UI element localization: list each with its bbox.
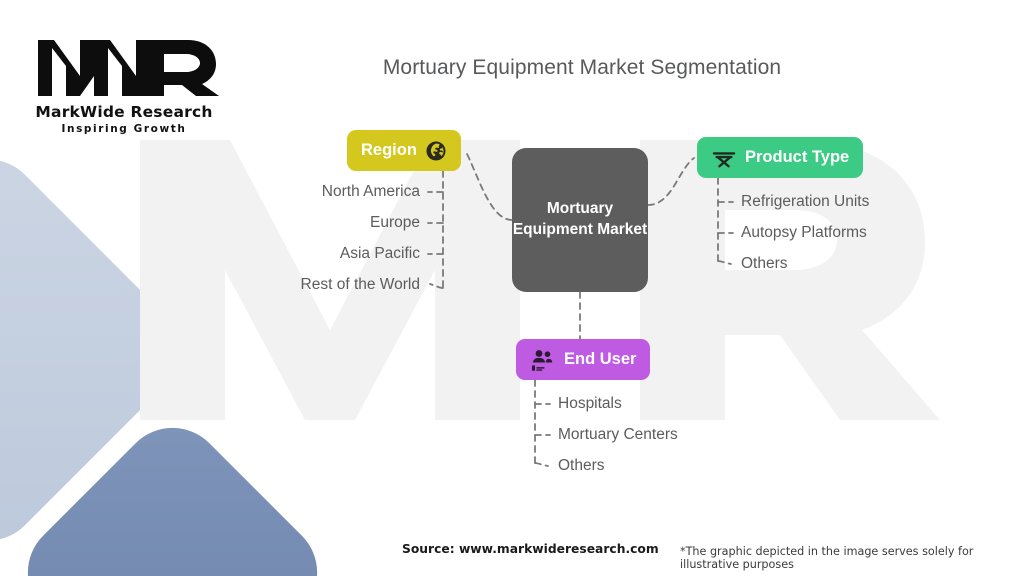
branch-label-region: Region (361, 141, 417, 160)
branch-label-product-type: Product Type (745, 148, 849, 167)
leaf-end-user-2[interactable]: Others (558, 457, 605, 475)
leaf-region-1[interactable]: Europe (170, 214, 420, 232)
people-icon (530, 348, 556, 372)
edge-region-leaf-3 (430, 284, 443, 288)
segmentation-diagram: Mortuary Equipment Market Region Product… (0, 0, 1024, 576)
branch-label-end-user: End User (564, 350, 636, 369)
leaf-region-2[interactable]: Asia Pacific (170, 245, 420, 263)
leaf-end-user-0[interactable]: Hospitals (558, 395, 622, 413)
edge-enduser-leaf-2 (535, 463, 548, 466)
leaf-region-0[interactable]: North America (170, 183, 420, 201)
autopsy-table-icon (711, 147, 737, 169)
edge-center-region (466, 152, 512, 220)
leaf-end-user-1[interactable]: Mortuary Centers (558, 426, 678, 444)
branch-badge-end-user[interactable]: End User (516, 339, 650, 380)
connector-edges (0, 0, 1024, 576)
leaf-product-type-0[interactable]: Refrigeration Units (741, 193, 869, 211)
center-node-label: Mortuary Equipment Market (512, 199, 648, 241)
leaf-product-type-2[interactable]: Others (741, 255, 788, 273)
leaf-region-3[interactable]: Rest of the World (170, 276, 420, 294)
disclaimer-label: *The graphic depicted in the image serve… (680, 545, 1024, 571)
leaf-product-type-1[interactable]: Autopsy Platforms (741, 224, 867, 242)
globe-icon (425, 140, 447, 162)
branch-badge-region[interactable]: Region (347, 130, 461, 171)
center-node[interactable]: Mortuary Equipment Market (512, 148, 648, 292)
branch-badge-product-type[interactable]: Product Type (697, 137, 863, 178)
edge-product-leaf-2 (718, 261, 731, 264)
edge-center-product (648, 158, 694, 205)
source-label: Source: www.markwideresearch.com (402, 542, 659, 556)
